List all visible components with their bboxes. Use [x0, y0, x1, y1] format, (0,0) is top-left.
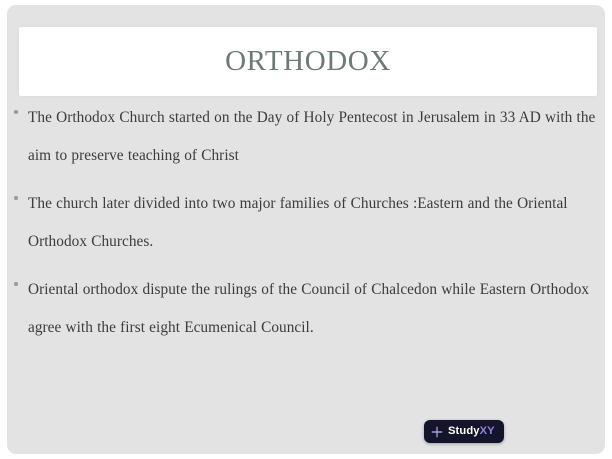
list-item: The church later divided into two major … [7, 185, 605, 261]
watermark-label: StudyXY [448, 426, 495, 437]
watermark-label-primary: Study [448, 425, 480, 437]
list-item: Oriental orthodox dispute the rulings of… [7, 271, 605, 347]
watermark-label-accent: XY [480, 425, 495, 437]
studyxy-watermark-badge[interactable]: StudyXY [424, 420, 504, 443]
page-title: ORTHODOX [225, 47, 391, 76]
slide-body: The Orthodox Church started on the Day o… [7, 99, 605, 347]
plus-icon [431, 426, 443, 438]
bullet-dot-icon [14, 282, 18, 286]
slide-title-box: ORTHODOX [19, 27, 597, 96]
bullet-dot-icon [14, 110, 18, 114]
list-item: The Orthodox Church started on the Day o… [7, 99, 605, 175]
bullet-dot-icon [14, 196, 18, 200]
list-item-text: Oriental orthodox dispute the rulings of… [28, 281, 589, 336]
list-item-text: The Orthodox Church started on the Day o… [28, 109, 595, 164]
slide-canvas: ORTHODOX The Orthodox Church started on … [7, 5, 605, 454]
list-item-text: The church later divided into two major … [28, 195, 568, 250]
